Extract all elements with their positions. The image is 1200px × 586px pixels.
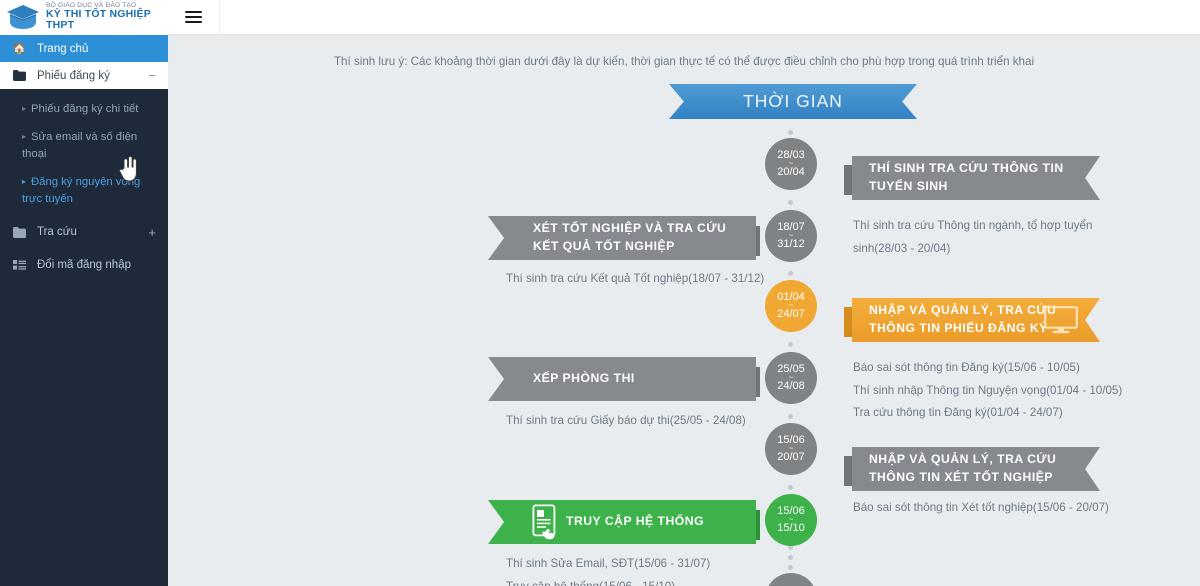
right-desc-3: Báo sai sót thông tin Xét tốt nghiệp(15/… bbox=[853, 497, 1133, 520]
banner-title-line2: THÔNG TIN PHIẾU ĐĂNG KÝ bbox=[869, 320, 1056, 338]
node-date-to: 24/07 bbox=[777, 309, 805, 320]
sidebar-item-label: Đổi mã đăng nhập bbox=[37, 259, 156, 271]
thoi-gian-ribbon: THỜI GIAN bbox=[669, 84, 917, 119]
monitor-icon bbox=[1044, 306, 1078, 334]
node-date-to: 15/10 bbox=[777, 523, 805, 534]
banner-title-line1: NHẬP VÀ QUẢN LÝ, TRA CỨU bbox=[869, 451, 1056, 469]
tablet-hand-icon bbox=[532, 504, 562, 540]
left-desc-1: Thí sinh tra cứu Kết quả Tốt nghiệp(18/0… bbox=[506, 268, 786, 291]
left-banner-1: XÉT TỐT NGHIỆP VÀ TRA CỨU KẾT QUẢ TỐT NG… bbox=[488, 216, 756, 260]
chevron-right-icon: ▸ bbox=[22, 104, 26, 113]
sidebar-subitem-sua-email[interactable]: ▸Sửa email và số điện thoại bbox=[0, 123, 168, 168]
hamburger-menu-icon bbox=[185, 8, 202, 26]
desc-line: Báo sai sót thông tin Đăng ký(15/06 - 10… bbox=[853, 357, 1123, 380]
sidebar-subitem-label: Sửa email và số điện thoại bbox=[22, 131, 137, 159]
node-date-separator: ~ bbox=[789, 303, 794, 309]
timeline-node: 15/06 ~ 15/10 bbox=[765, 494, 817, 546]
left-desc-3: Thí sinh Sửa Email, SĐT(15/06 - 31/07) T… bbox=[506, 553, 796, 586]
sidebar-item-phieu-dang-ky[interactable]: Phiếu đăng ký − bbox=[0, 62, 168, 89]
timeline-node: 28/03 ~ 20/04 bbox=[765, 138, 817, 190]
node-date-separator: ~ bbox=[789, 446, 794, 452]
sidebar-subitem-dang-ky-nguyen-vong[interactable]: ▸Đăng ký nguyện vọng trực tuyến bbox=[0, 168, 168, 213]
top-bar: BỘ GIÁO DỤC VÀ ĐÀO TẠO KỲ THI TỐT NGHIỆP… bbox=[0, 0, 1200, 35]
node-date-to: 31/12 bbox=[777, 239, 805, 250]
sidebar-item-label: Phiếu đăng ký bbox=[37, 70, 138, 82]
node-date-separator: ~ bbox=[789, 375, 794, 381]
desc-line: Báo sai sót thông tin Xét tốt nghiệp(15/… bbox=[853, 497, 1133, 520]
hamburger-menu-button[interactable] bbox=[168, 0, 220, 35]
node-date-separator: ~ bbox=[789, 161, 794, 167]
page-root: BỘ GIÁO DỤC VÀ ĐÀO TẠO KỲ THI TỐT NGHIỆP… bbox=[0, 0, 1200, 586]
desc-line: Tra cứu thông tin Đăng ký(01/04 - 24/07) bbox=[853, 402, 1123, 425]
folder-icon bbox=[12, 70, 27, 81]
banner-title-line1: XÉT TỐT NGHIỆP VÀ TRA CỨU bbox=[533, 220, 726, 238]
right-banner-2: NHẬP VÀ QUẢN LÝ, TRA CỨU THÔNG TIN PHIẾU… bbox=[852, 298, 1100, 342]
right-banner-1: THÍ SINH TRA CỨU THÔNG TIN TUYỂN SINH bbox=[852, 156, 1100, 200]
expand-toggle-icon[interactable]: + bbox=[148, 225, 156, 240]
banner-title-line2: KẾT QUẢ TỐT NGHIỆP bbox=[533, 238, 726, 256]
desc-line: Thí sinh tra cứu Giấy báo dự thi(25/05 -… bbox=[506, 410, 786, 433]
brand-title: KỲ THI TỐT NGHIỆP THPT bbox=[46, 9, 168, 31]
chevron-right-icon: ▸ bbox=[22, 132, 26, 141]
thoi-gian-ribbon-label: THỜI GIAN bbox=[669, 84, 917, 119]
desc-line: Truy cập hệ thống(15/06 - 15/10) bbox=[506, 576, 796, 586]
node-date-separator: ~ bbox=[789, 233, 794, 239]
home-icon: 🏠 bbox=[12, 42, 27, 55]
sidebar-subitem-label: Đăng ký nguyện vọng trực tuyến bbox=[22, 176, 140, 204]
graduation-cap-icon bbox=[6, 2, 40, 32]
node-date-separator: ~ bbox=[789, 517, 794, 523]
desc-line: Thí sinh tra cứu Thông tin ngành, tổ hợp… bbox=[853, 215, 1103, 238]
left-banner-2: XẾP PHÒNG THI bbox=[488, 357, 756, 401]
sidebar-subitem-label: Phiếu đăng ký chi tiết bbox=[31, 103, 138, 115]
timeline-node: 18/07 ~ 31/12 bbox=[765, 210, 817, 262]
right-desc-2: Báo sai sót thông tin Đăng ký(15/06 - 10… bbox=[853, 357, 1123, 425]
brand-logo[interactable]: BỘ GIÁO DỤC VÀ ĐÀO TẠO KỲ THI TỐT NGHIỆP… bbox=[0, 0, 168, 35]
banner-title-line2: THÔNG TIN XÉT TỐT NGHIỆP bbox=[869, 469, 1056, 487]
sidebar: 🏠 Trang chủ Phiếu đăng ký − ▸Phiếu đăng … bbox=[0, 35, 168, 586]
sidebar-subitem-phieu-chi-tiet[interactable]: ▸Phiếu đăng ký chi tiết bbox=[0, 95, 168, 123]
collapse-toggle-icon[interactable]: − bbox=[148, 68, 156, 83]
banner-title-line1: THÍ SINH TRA CỨU THÔNG TIN bbox=[869, 160, 1064, 178]
main-content: Thí sinh lưu ý: Các khoảng thời gian dướ… bbox=[168, 35, 1200, 586]
chevron-right-icon: ▸ bbox=[22, 177, 26, 186]
desc-line: sinh(28/03 - 20/04) bbox=[853, 238, 1103, 261]
node-date-to: 20/07 bbox=[777, 452, 805, 463]
desc-line: Thí sinh Sửa Email, SĐT(15/06 - 31/07) bbox=[506, 553, 796, 576]
right-desc-1: Thí sinh tra cứu Thông tin ngành, tổ hợp… bbox=[853, 215, 1103, 260]
banner-title-line1: XẾP PHÒNG THI bbox=[533, 370, 635, 388]
left-banner-3: TRUY CẬP HỆ THỐNG bbox=[488, 500, 756, 544]
sidebar-item-doi-ma-dang-nhap[interactable]: Đổi mã đăng nhập bbox=[0, 252, 168, 279]
sidebar-item-tra-cuu[interactable]: Tra cứu + bbox=[0, 219, 168, 246]
banner-title-line2: TUYỂN SINH bbox=[869, 178, 1064, 196]
timeline-node: 25/05 ~ 24/08 bbox=[765, 352, 817, 404]
sidebar-item-trang-chu[interactable]: 🏠 Trang chủ bbox=[0, 35, 168, 62]
desc-line: Thí sinh nhập Thông tin Nguyện vọng(01/0… bbox=[853, 380, 1123, 403]
sidebar-item-label: Trang chủ bbox=[37, 43, 156, 55]
sidebar-item-label: Tra cứu bbox=[37, 226, 138, 238]
right-banner-3: NHẬP VÀ QUẢN LÝ, TRA CỨU THÔNG TIN XÉT T… bbox=[852, 447, 1100, 491]
notice-text: Thí sinh lưu ý: Các khoảng thời gian dướ… bbox=[168, 55, 1200, 68]
desc-line: Thí sinh tra cứu Kết quả Tốt nghiệp(18/0… bbox=[506, 268, 786, 291]
list-icon bbox=[12, 260, 27, 270]
banner-title-line1: NHẬP VÀ QUẢN LÝ, TRA CỨU bbox=[869, 302, 1056, 320]
node-date-to: 24/08 bbox=[777, 381, 805, 392]
banner-title-line1: TRUY CẬP HỆ THỐNG bbox=[566, 513, 704, 531]
node-date-to: 20/04 bbox=[777, 167, 805, 178]
folder-icon bbox=[12, 227, 27, 238]
left-desc-2: Thí sinh tra cứu Giấy báo dự thi(25/05 -… bbox=[506, 410, 786, 433]
